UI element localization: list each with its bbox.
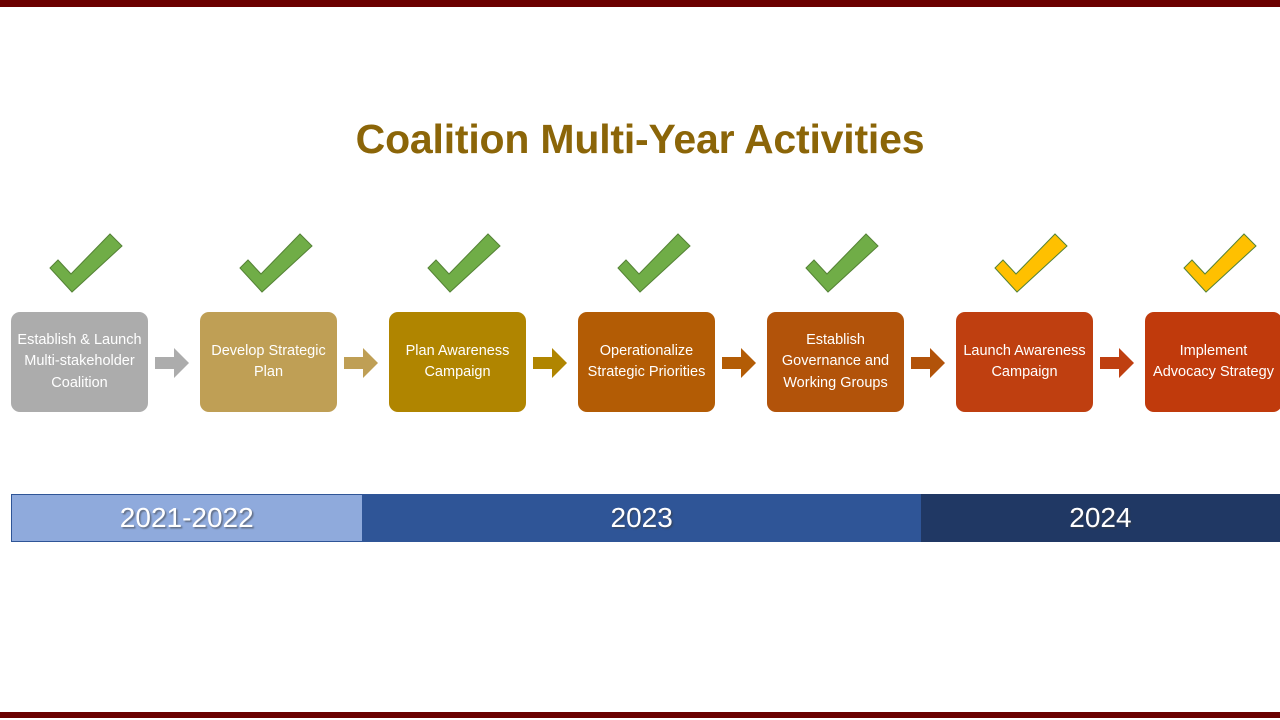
process-step-label: Develop Strategic Plan [206,341,331,383]
process-step-6[interactable]: Launch Awareness Campaign [956,312,1093,412]
timeline-segment-label: 2024 [1069,502,1131,534]
process-step-2[interactable]: Develop Strategic Plan [200,312,337,412]
checkmark-icon-step-7 [1170,230,1266,304]
timeline-bar: 2021-2022 2023 2024 [11,494,1280,542]
timeline-segment-2023[interactable]: 2023 [363,494,921,542]
checkmark-icon-step-2 [226,230,322,304]
arrow-icon-3-to-4 [533,348,567,378]
process-step-label: Implement Advocacy Strategy [1151,341,1276,383]
process-step-1[interactable]: Establish & Launch Multi-stakeholder Coa… [11,312,148,412]
arrow-icon-2-to-3 [344,348,378,378]
top-accent-rule [0,0,1280,7]
arrow-icon-5-to-6 [911,348,945,378]
process-step-7[interactable]: Implement Advocacy Strategy [1145,312,1280,412]
process-step-3[interactable]: Plan Awareness Campaign [389,312,526,412]
arrow-icon-6-to-7 [1100,348,1134,378]
process-step-label: Establish Governance and Working Groups [773,330,898,393]
process-step-4[interactable]: Operationalize Strategic Priorities [578,312,715,412]
timeline-segment-2024[interactable]: 2024 [921,494,1280,542]
process-step-5[interactable]: Establish Governance and Working Groups [767,312,904,412]
checkmark-icon-step-3 [414,230,510,304]
process-step-label: Establish & Launch Multi-stakeholder Coa… [17,330,142,393]
timeline-segment-label: 2021-2022 [120,502,254,534]
checkmark-icon-step-6 [981,230,1077,304]
bottom-accent-rule [0,712,1280,718]
process-step-label: Plan Awareness Campaign [395,341,520,383]
checkmark-icon-step-1 [36,230,132,304]
page-title: Coalition Multi-Year Activities [0,116,1280,163]
checkmark-icon-step-5 [792,230,888,304]
process-flow: Establish & Launch Multi-stakeholder Coa… [0,230,1280,420]
arrow-icon-1-to-2 [155,348,189,378]
timeline-segment-label: 2023 [611,502,673,534]
process-step-label: Launch Awareness Campaign [962,341,1087,383]
timeline-segment-2021-2022[interactable]: 2021-2022 [11,494,363,542]
process-step-label: Operationalize Strategic Priorities [584,341,709,383]
checkmark-icon-step-4 [604,230,700,304]
arrow-icon-4-to-5 [722,348,756,378]
